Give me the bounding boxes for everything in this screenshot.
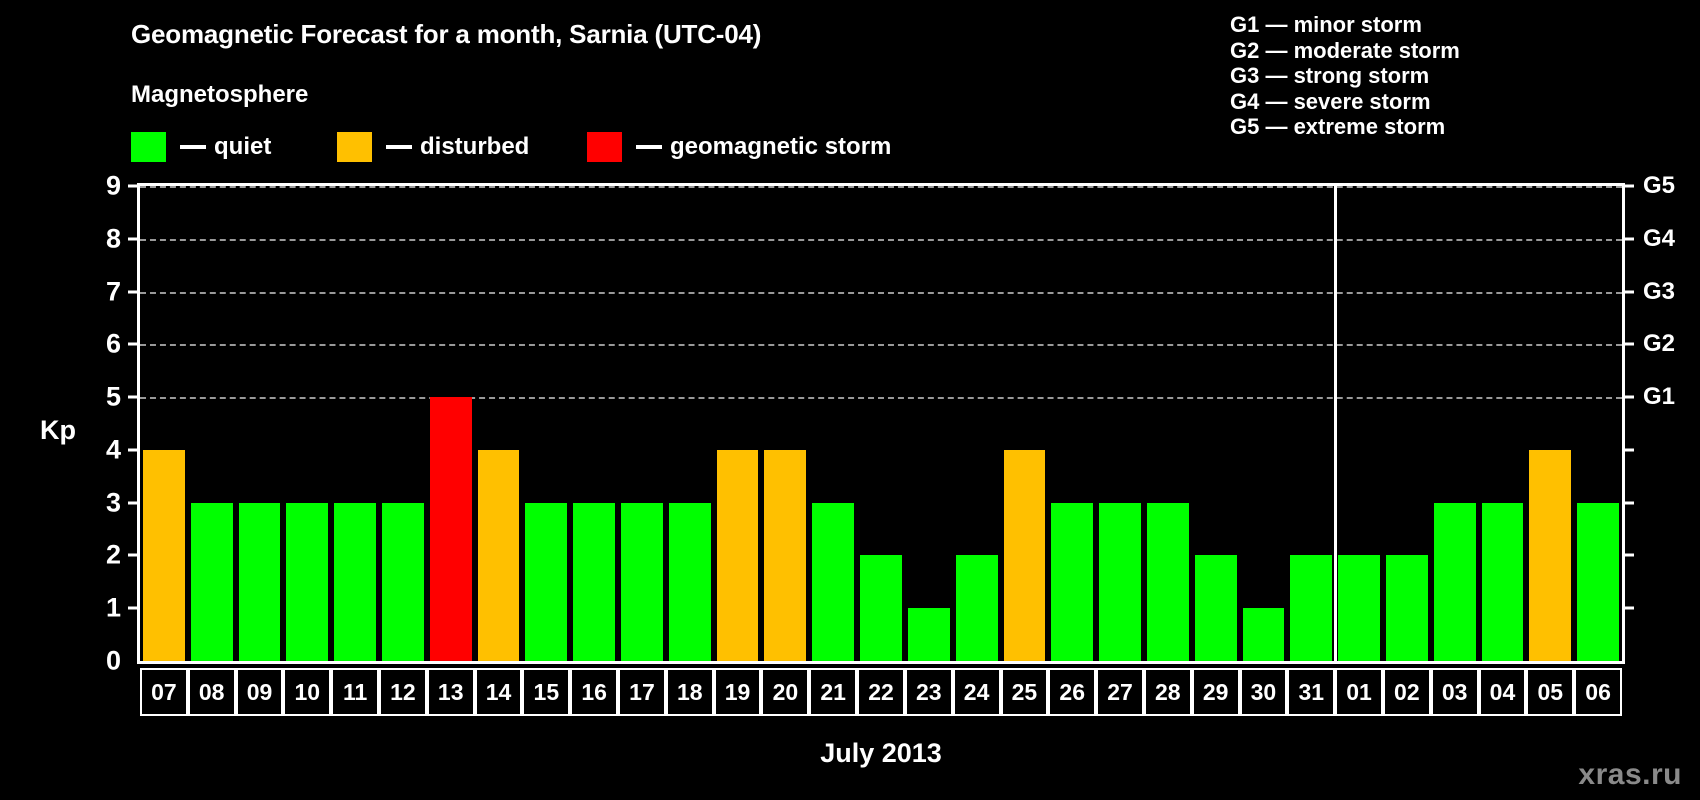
g-axis-minor-tick-2 — [1622, 554, 1634, 557]
y-tick-label-5: 5 — [81, 382, 121, 413]
bar-day-08 — [191, 503, 233, 661]
date-label-06: 06 — [1585, 681, 1611, 704]
date-label-07: 07 — [151, 681, 177, 704]
date-label-28: 28 — [1155, 681, 1181, 704]
bar-day-27 — [1099, 503, 1141, 661]
x-axis-title-wrap: July 2013 — [137, 738, 1625, 769]
magnetosphere-heading: Magnetosphere — [131, 81, 308, 109]
g-axis-minor-tick-3 — [1622, 501, 1634, 504]
legend-dash-icon — [180, 145, 206, 149]
bar-day-19 — [717, 450, 759, 661]
bar-day-30 — [1243, 608, 1285, 661]
bar-day-04 — [1482, 503, 1524, 661]
date-box-30: 30 — [1240, 668, 1288, 716]
x-axis-date-labels: 0708091011121314151617181920212223242526… — [137, 668, 1625, 716]
gridline-kp-7 — [140, 292, 1622, 294]
bar-day-03 — [1434, 503, 1476, 661]
date-label-31: 31 — [1298, 681, 1324, 704]
bar-day-05 — [1529, 450, 1571, 661]
bar-day-31 — [1290, 555, 1332, 661]
date-label-22: 22 — [868, 681, 894, 704]
bar-day-02 — [1386, 555, 1428, 661]
date-box-31: 31 — [1287, 668, 1335, 716]
legend-label-quiet: quiet — [214, 133, 271, 161]
y-tick-label-1: 1 — [81, 593, 121, 624]
legend-swatch-disturbed — [337, 132, 372, 162]
date-box-24: 24 — [953, 668, 1001, 716]
g-axis-minor-tick-1 — [1622, 607, 1634, 610]
bar-day-01 — [1338, 555, 1380, 661]
date-box-02: 02 — [1383, 668, 1431, 716]
bar-day-18 — [669, 503, 711, 661]
date-box-20: 20 — [761, 668, 809, 716]
date-label-14: 14 — [486, 681, 512, 704]
bar-day-24 — [956, 555, 998, 661]
legend-label-geomagnetic-storm: geomagnetic storm — [670, 133, 891, 161]
date-label-23: 23 — [916, 681, 942, 704]
date-box-07: 07 — [140, 668, 188, 716]
date-label-17: 17 — [629, 681, 655, 704]
bar-day-21 — [812, 503, 854, 661]
date-label-12: 12 — [390, 681, 416, 704]
legend-item-geomagnetic-storm: geomagnetic storm — [587, 130, 891, 164]
g-tick-mark-G3 — [1622, 290, 1634, 293]
date-label-11: 11 — [343, 681, 367, 704]
date-label-26: 26 — [1059, 681, 1085, 704]
storm-scale-line-3: G3 — strong storm — [1230, 63, 1460, 89]
g-tick-mark-G4 — [1622, 237, 1634, 240]
storm-scale-legend: G1 — minor stormG2 — moderate stormG3 — … — [1230, 12, 1460, 140]
bar-day-09 — [239, 503, 281, 661]
date-box-15: 15 — [522, 668, 570, 716]
bar-day-15 — [525, 503, 567, 661]
legend-label-disturbed: disturbed — [420, 133, 529, 161]
g-axis-label-G2: G2 — [1643, 330, 1675, 358]
date-box-11: 11 — [331, 668, 379, 716]
g-axis-label-G1: G1 — [1643, 383, 1675, 411]
date-box-23: 23 — [905, 668, 953, 716]
plot-area — [137, 183, 1625, 664]
date-box-28: 28 — [1144, 668, 1192, 716]
date-box-09: 09 — [236, 668, 284, 716]
bar-day-26 — [1051, 503, 1093, 661]
y-axis-title: Kp — [40, 415, 76, 446]
date-box-13: 13 — [427, 668, 475, 716]
date-label-04: 04 — [1490, 681, 1516, 704]
date-box-14: 14 — [475, 668, 523, 716]
geomagnetic-forecast-chart: Geomagnetic Forecast for a month, Sarnia… — [0, 0, 1700, 800]
date-label-16: 16 — [581, 681, 607, 704]
date-box-12: 12 — [379, 668, 427, 716]
bar-day-17 — [621, 503, 663, 661]
bar-day-06 — [1577, 503, 1619, 661]
bar-day-22 — [860, 555, 902, 661]
date-label-08: 08 — [199, 681, 225, 704]
date-label-29: 29 — [1203, 681, 1229, 704]
date-label-13: 13 — [438, 681, 464, 704]
date-label-19: 19 — [725, 681, 751, 704]
date-box-05: 05 — [1526, 668, 1574, 716]
g-axis-label-G3: G3 — [1643, 278, 1675, 306]
y-tick-label-3: 3 — [81, 487, 121, 518]
date-label-18: 18 — [677, 681, 703, 704]
g-tick-mark-G5 — [1622, 185, 1634, 188]
date-box-06: 06 — [1574, 668, 1622, 716]
y-tick-mark-8 — [128, 237, 140, 240]
page-title: Geomagnetic Forecast for a month, Sarnia… — [131, 19, 761, 50]
date-label-05: 05 — [1537, 681, 1563, 704]
y-tick-label-0: 0 — [81, 646, 121, 677]
bar-day-16 — [573, 503, 615, 661]
date-label-27: 27 — [1107, 681, 1133, 704]
month-boundary-line — [1334, 186, 1337, 661]
y-tick-mark-9 — [128, 185, 140, 188]
y-tick-label-4: 4 — [81, 434, 121, 465]
date-box-26: 26 — [1048, 668, 1096, 716]
bar-day-13 — [430, 397, 472, 661]
legend-swatch-quiet — [131, 132, 166, 162]
date-label-20: 20 — [773, 681, 799, 704]
bar-day-12 — [382, 503, 424, 661]
date-box-08: 08 — [188, 668, 236, 716]
storm-scale-line-1: G1 — minor storm — [1230, 12, 1460, 38]
y-tick-label-6: 6 — [81, 329, 121, 360]
date-box-01: 01 — [1335, 668, 1383, 716]
date-label-30: 30 — [1251, 681, 1277, 704]
date-box-29: 29 — [1192, 668, 1240, 716]
gridline-kp-6 — [140, 344, 1622, 346]
y-tick-label-9: 9 — [81, 171, 121, 202]
bar-day-23 — [908, 608, 950, 661]
legend-swatch-geomagnetic-storm — [587, 132, 622, 162]
watermark: xras.ru — [1578, 758, 1682, 792]
date-label-01: 01 — [1346, 681, 1372, 704]
legend-item-disturbed: disturbed — [337, 130, 529, 164]
date-label-24: 24 — [964, 681, 990, 704]
date-box-03: 03 — [1431, 668, 1479, 716]
date-box-21: 21 — [809, 668, 857, 716]
g-tick-mark-G2 — [1622, 343, 1634, 346]
g-axis-label-G5: G5 — [1643, 172, 1675, 200]
y-tick-mark-2 — [128, 554, 140, 557]
gridline-kp-9 — [140, 186, 1622, 188]
date-box-10: 10 — [283, 668, 331, 716]
gridline-kp-8 — [140, 239, 1622, 241]
legend-dash-icon — [636, 145, 662, 149]
date-box-04: 04 — [1479, 668, 1527, 716]
date-label-09: 09 — [247, 681, 273, 704]
storm-scale-line-2: G2 — moderate storm — [1230, 38, 1460, 64]
date-box-18: 18 — [666, 668, 714, 716]
storm-scale-line-5: G5 — extreme storm — [1230, 114, 1460, 140]
bar-day-07 — [143, 450, 185, 661]
date-label-03: 03 — [1442, 681, 1468, 704]
bar-day-29 — [1195, 555, 1237, 661]
date-label-21: 21 — [820, 681, 846, 704]
bar-day-28 — [1147, 503, 1189, 661]
y-tick-mark-7 — [128, 290, 140, 293]
y-tick-label-2: 2 — [81, 540, 121, 571]
g-axis-label-G4: G4 — [1643, 225, 1675, 253]
y-tick-mark-5 — [128, 396, 140, 399]
bar-day-25 — [1004, 450, 1046, 661]
y-tick-mark-6 — [128, 343, 140, 346]
g-tick-mark-G1 — [1622, 396, 1634, 399]
bar-day-10 — [286, 503, 328, 661]
legend-dash-icon — [386, 145, 412, 149]
y-tick-label-8: 8 — [81, 223, 121, 254]
y-tick-label-7: 7 — [81, 276, 121, 307]
date-label-15: 15 — [534, 681, 560, 704]
date-box-22: 22 — [857, 668, 905, 716]
date-box-19: 19 — [714, 668, 762, 716]
y-tick-mark-1 — [128, 607, 140, 610]
date-label-25: 25 — [1012, 681, 1038, 704]
date-box-25: 25 — [1001, 668, 1049, 716]
bar-day-14 — [478, 450, 520, 661]
gridline-kp-5 — [140, 397, 1622, 399]
date-box-27: 27 — [1096, 668, 1144, 716]
date-box-17: 17 — [618, 668, 666, 716]
y-tick-mark-4 — [128, 448, 140, 451]
date-box-16: 16 — [570, 668, 618, 716]
storm-scale-line-4: G4 — severe storm — [1230, 89, 1460, 115]
bar-day-11 — [334, 503, 376, 661]
bar-day-20 — [764, 450, 806, 661]
date-label-02: 02 — [1394, 681, 1420, 704]
date-label-10: 10 — [295, 681, 321, 704]
legend-item-quiet: quiet — [131, 130, 271, 164]
y-tick-mark-3 — [128, 501, 140, 504]
g-axis-minor-tick-4 — [1622, 448, 1634, 451]
x-axis-title: July 2013 — [820, 738, 942, 768]
